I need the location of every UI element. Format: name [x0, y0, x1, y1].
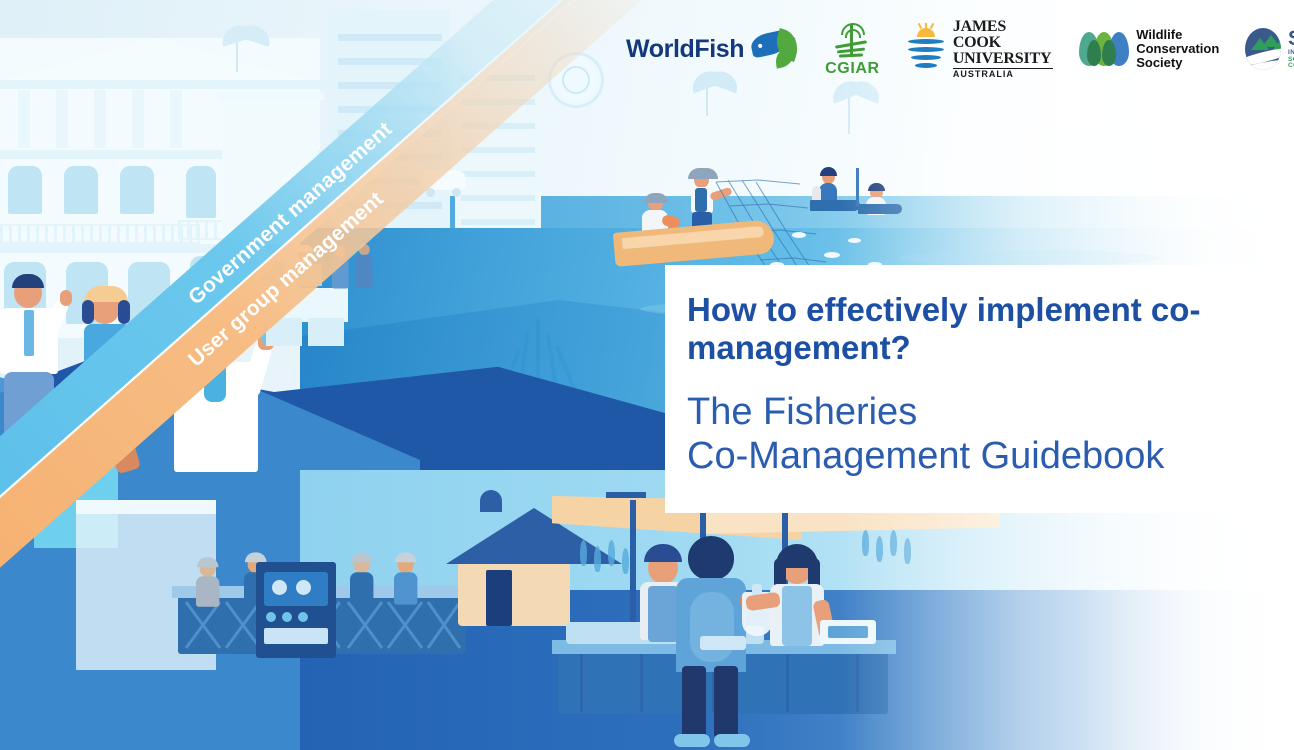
shoe-icon	[714, 734, 750, 747]
stall-pole	[630, 500, 636, 630]
fish-leaf-icon	[751, 29, 799, 69]
three-leaves-icon	[1079, 30, 1129, 68]
crate-icon	[700, 636, 746, 650]
wcs-line3: Society	[1136, 56, 1219, 70]
glasses-icon	[218, 322, 238, 336]
counter-lattice	[342, 598, 464, 652]
title-main: The Fisheries Co-Management Guidebook	[687, 390, 1274, 479]
logo-cgiar: CGIAR	[825, 21, 880, 78]
car-wheel-icon	[452, 188, 461, 197]
report-cover: Government management User group managem…	[0, 0, 1294, 750]
shoe-icon	[674, 734, 710, 747]
glasses-icon	[196, 322, 216, 336]
hanging-fish-icon	[608, 540, 615, 566]
secos-line3: SOCIO-ECOLOGIA COSTERA	[1288, 57, 1294, 71]
crate-icon	[266, 318, 302, 346]
cgiar-wordmark: CGIAR	[825, 60, 880, 78]
fish-icon	[824, 252, 840, 258]
title-main-line2: Co-Management Guidebook	[687, 434, 1274, 478]
car-icon	[420, 170, 466, 190]
counter-slat	[786, 654, 789, 712]
jcu-line1: JAMES COOK	[953, 19, 1053, 51]
jcu-line2: UNIVERSITY	[953, 51, 1053, 67]
machine-button	[282, 612, 292, 622]
logo-secos: SECOS INSTITUTO MILENIO EN SOCIO-ECOLOGI…	[1245, 28, 1294, 70]
hanging-fish-icon	[622, 548, 629, 574]
gauge-icon	[296, 580, 311, 595]
jcu-line3: AUSTRALIA	[953, 68, 1053, 79]
shopping-bag-icon	[116, 348, 168, 404]
logo-worldfish: WorldFish	[626, 29, 799, 69]
podium-top	[76, 500, 216, 514]
wcs-line2: Conservation	[1136, 42, 1219, 56]
wcs-line1: Wildlife	[1136, 28, 1219, 42]
crate-icon	[308, 318, 344, 346]
logo-wildlife-conservation-society: Wildlife Conservation Society	[1079, 28, 1219, 70]
crate-icon	[258, 262, 284, 286]
counter-slat	[580, 654, 583, 712]
machine-slot	[264, 628, 328, 644]
fish-icon	[792, 232, 806, 238]
secos-wordmark: SECOS	[1288, 28, 1294, 50]
title-panel: How to effectively implement co-manageme…	[665, 265, 1294, 513]
hanging-fish-icon	[594, 546, 601, 572]
machine-button	[266, 612, 276, 622]
hanging-fish-icon	[580, 540, 587, 566]
title-question: How to effectively implement co-manageme…	[687, 291, 1274, 368]
worldfish-wordmark: WorldFish	[626, 35, 744, 64]
stall-crossbar	[606, 492, 646, 498]
crate-icon	[296, 264, 322, 286]
mountain-wave-circle-icon	[1245, 28, 1281, 70]
vegetable-icon	[148, 342, 166, 356]
car-wheel-icon	[426, 188, 435, 197]
wheat-icon	[835, 21, 869, 59]
counter-slat	[640, 654, 643, 712]
microphone-icon	[94, 446, 108, 468]
logo-james-cook-university: JAMES COOK UNIVERSITY AUSTRALIA	[906, 19, 1053, 79]
hut-roof-cap	[480, 490, 502, 512]
institution-emblem-icon	[548, 52, 604, 108]
machine-button	[298, 612, 308, 622]
title-main-line1: The Fisheries	[687, 390, 1274, 434]
sun-waves-icon	[906, 27, 946, 71]
hut-door	[486, 570, 512, 626]
market-hut	[458, 562, 570, 626]
gauge-icon	[272, 580, 287, 595]
market-table-distant	[252, 288, 348, 322]
partner-logos: WorldFish CGIAR	[626, 16, 1294, 82]
